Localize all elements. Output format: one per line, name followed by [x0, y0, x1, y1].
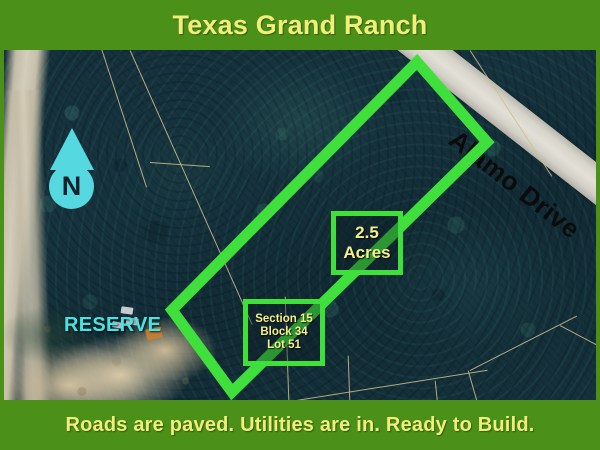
acreage-unit: Acres [343, 243, 390, 263]
footer-banner: Roads are paved. Utilities are in. Ready… [0, 400, 600, 450]
aerial-map[interactable]: Alamo Drive N RESERVE 2.5 Acres [0, 50, 600, 400]
legal-lot: Lot 51 [267, 339, 301, 352]
page-title: Texas Grand Ranch [173, 10, 428, 41]
legal-section: Section 15 [255, 313, 313, 326]
acreage-callout: 2.5 Acres [331, 211, 403, 275]
reserve-label: RESERVE [64, 314, 161, 337]
legal-description-callout: Section 15 Block 34 Lot 51 [243, 299, 325, 366]
cleared-area-texture [0, 290, 220, 400]
acreage-amount: 2.5 [355, 223, 379, 243]
compass-letter: N [49, 164, 94, 209]
legal-block: Block 34 [260, 326, 307, 339]
compass-north-indicator: N [44, 128, 100, 216]
footer-tagline: Roads are paved. Utilities are in. Ready… [65, 414, 534, 437]
frame-right-edge [596, 0, 600, 450]
frame-left-edge [0, 0, 4, 450]
listing-map-card: Texas Grand Ranch Alamo Drive [0, 0, 600, 450]
title-banner: Texas Grand Ranch [0, 0, 600, 50]
